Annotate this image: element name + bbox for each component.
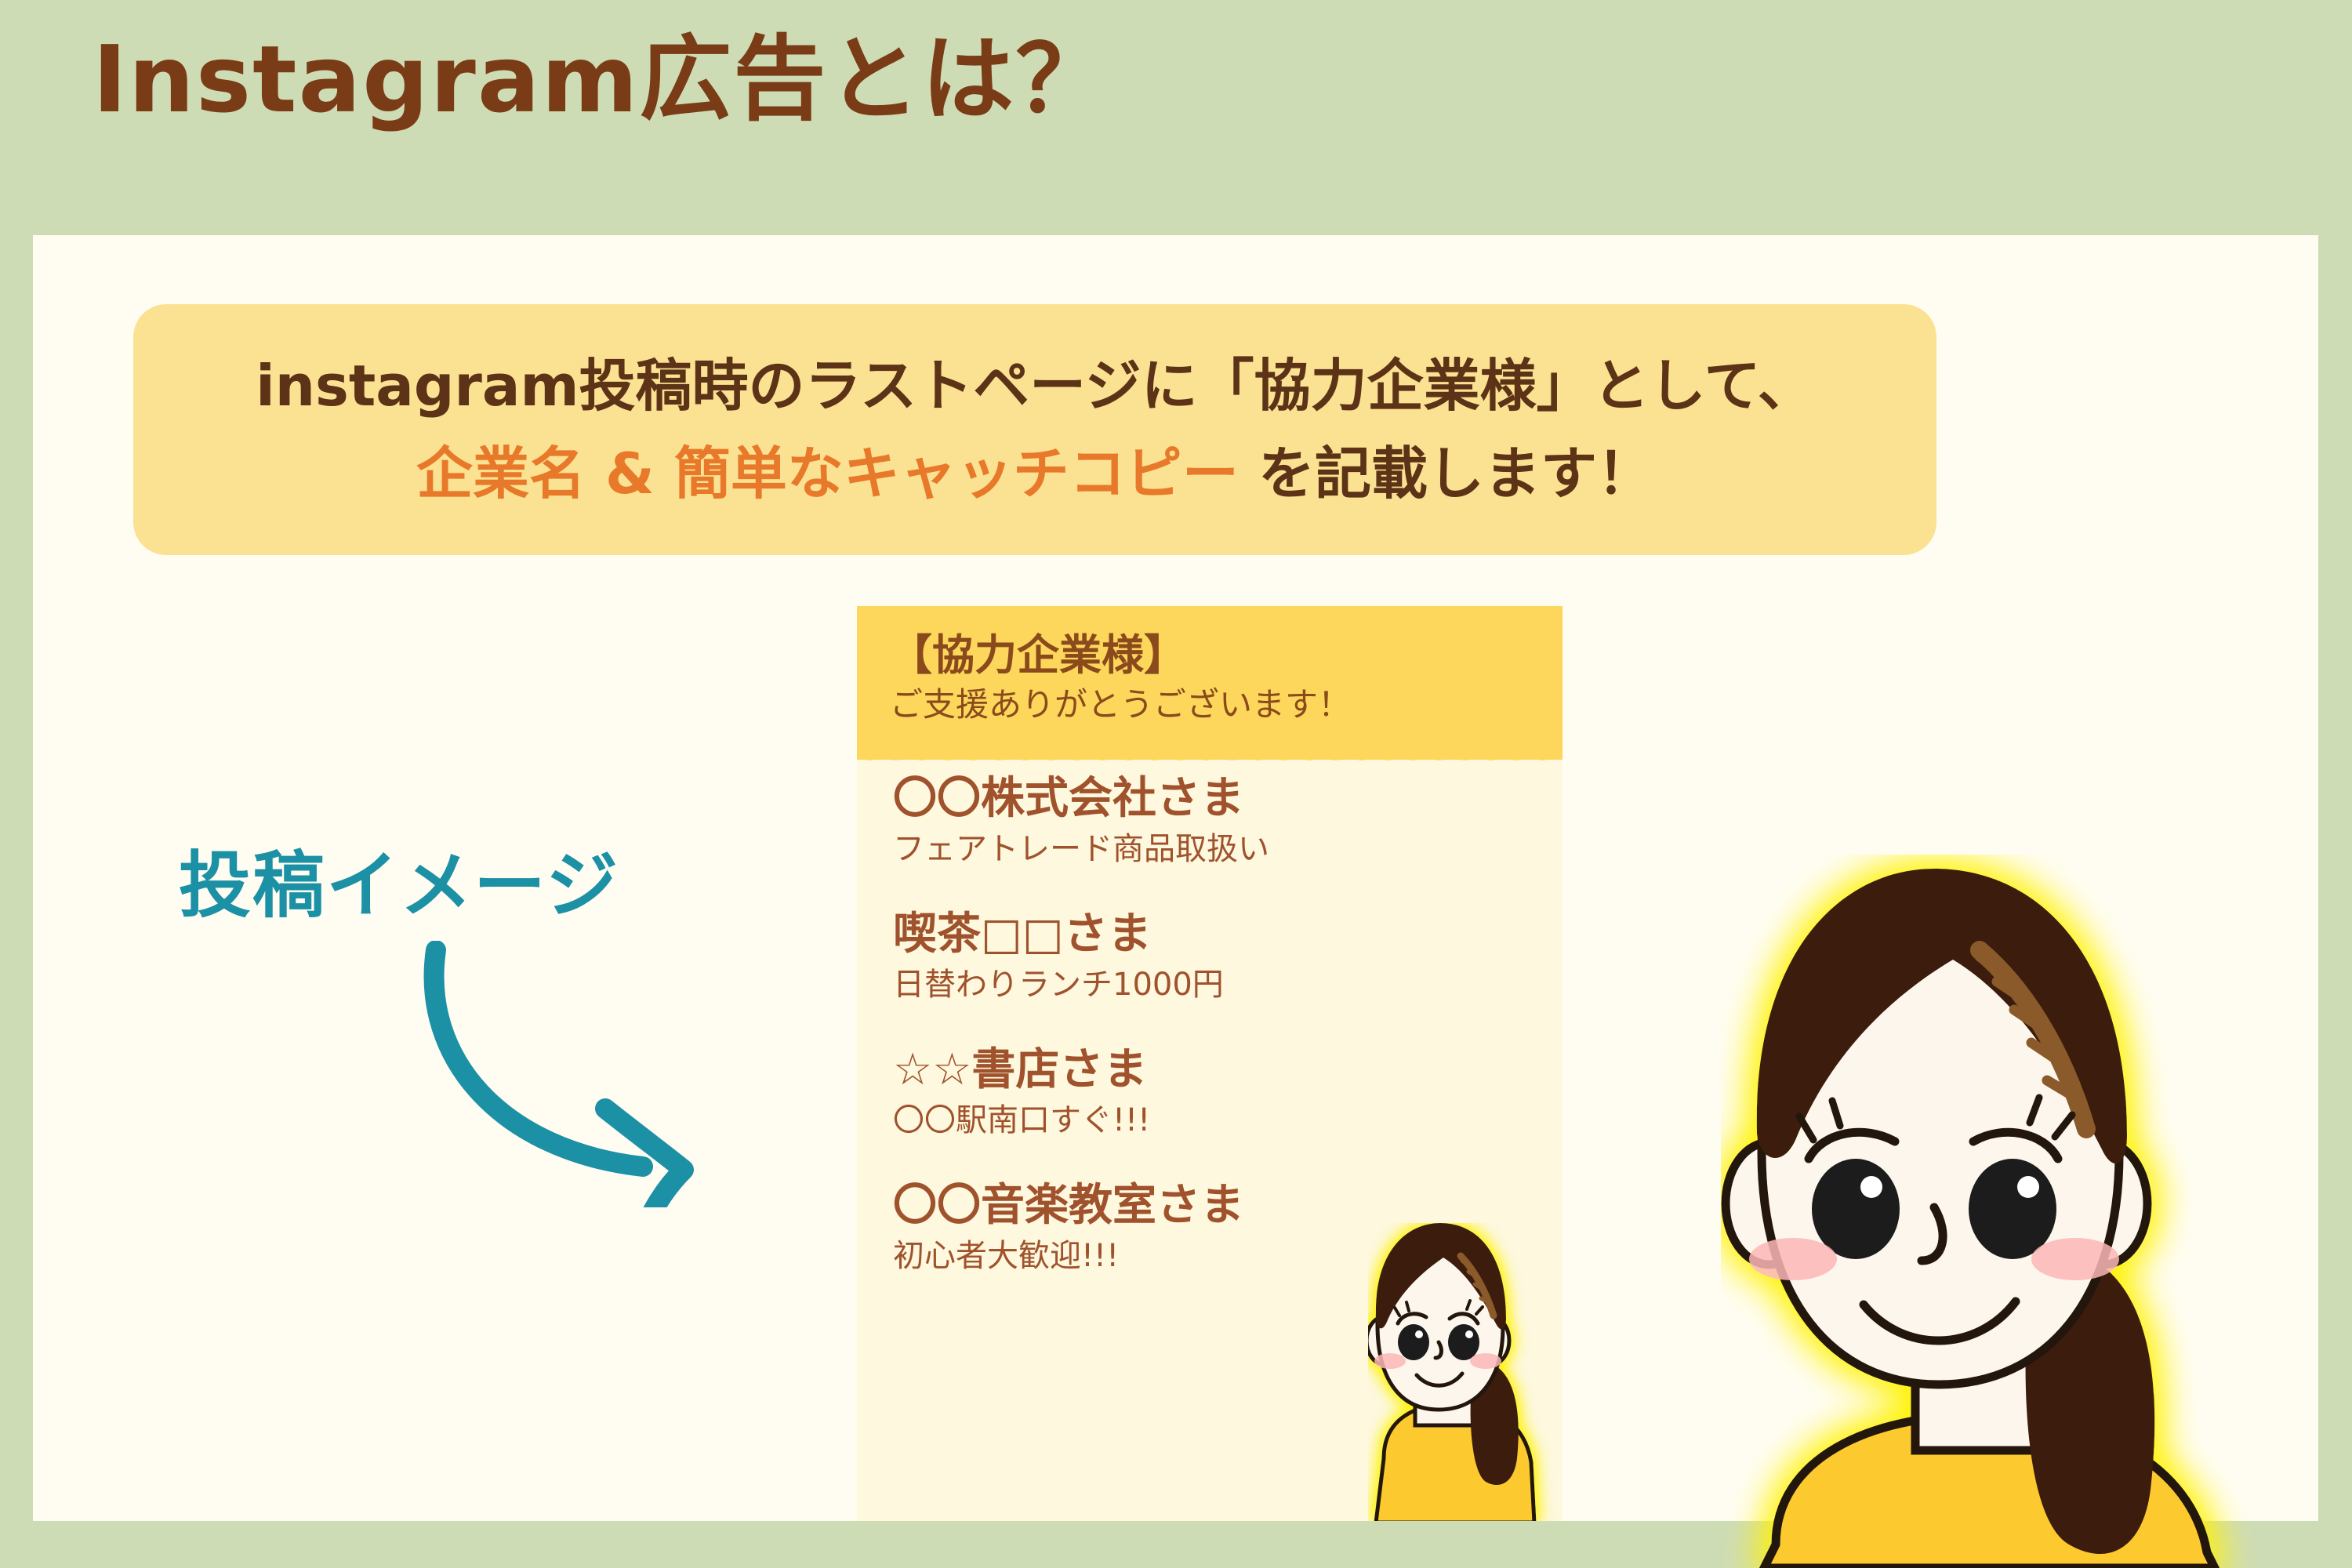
card-header: 【協力企業様】 ご支援ありがとうございます！ — [857, 606, 1563, 760]
sponsor-name: ☆☆書店さま — [893, 1045, 1563, 1096]
card-header-subtitle: ご支援ありがとうございます！ — [890, 678, 1351, 726]
callout-line-1: instagram投稿時のラストページに「協力企業様」として、 — [256, 343, 1814, 428]
curved-arrow-right-icon — [408, 941, 737, 1207]
girl-avatar-icon — [1368, 1223, 1563, 1521]
callout-line-2: 企業名 & 簡単なキャッチコピー を記載します！ — [416, 431, 1653, 516]
sponsor-desc: 日替わりランチ1000円 — [893, 965, 1563, 1004]
callout-box: instagram投稿時のラストページに「協力企業様」として、 企業名 & 簡単… — [133, 304, 1936, 555]
callout-line-2-rest: を記載します！ — [1239, 441, 1653, 506]
sponsor-name: 喫茶□□さま — [893, 909, 1563, 960]
card-header-title: 【協力企業様】 — [890, 620, 1186, 682]
girl-avatar-icon — [1721, 855, 2352, 1568]
list-item: ☆☆書店さま 〇〇駅南口すぐ!!! — [857, 1045, 1563, 1140]
callout-highlight: 企業名 & 簡単なキャッチコピー — [416, 441, 1239, 506]
sponsor-desc: フェアトレード商品取扱い — [893, 829, 1563, 869]
list-item: 喫茶□□さま 日替わりランチ1000円 — [857, 909, 1563, 1004]
slide-root: Instagram広告とは？ instagram投稿時のラストページに「協力企業… — [0, 0, 2352, 1568]
list-item: 〇〇株式会社さま フェアトレード商品取扱い — [857, 774, 1563, 869]
post-image-label: 投稿イメージ — [179, 827, 619, 931]
scallop-divider — [857, 747, 1563, 774]
post-preview-card: 【協力企業様】 ご支援ありがとうございます！ 〇〇株式会社さま フェアトレード商… — [857, 606, 1563, 1521]
sponsor-name: 〇〇株式会社さま — [893, 774, 1563, 825]
page-title: Instagram広告とは？ — [93, 22, 1109, 138]
sponsor-desc: 〇〇駅南口すぐ!!! — [893, 1101, 1563, 1140]
